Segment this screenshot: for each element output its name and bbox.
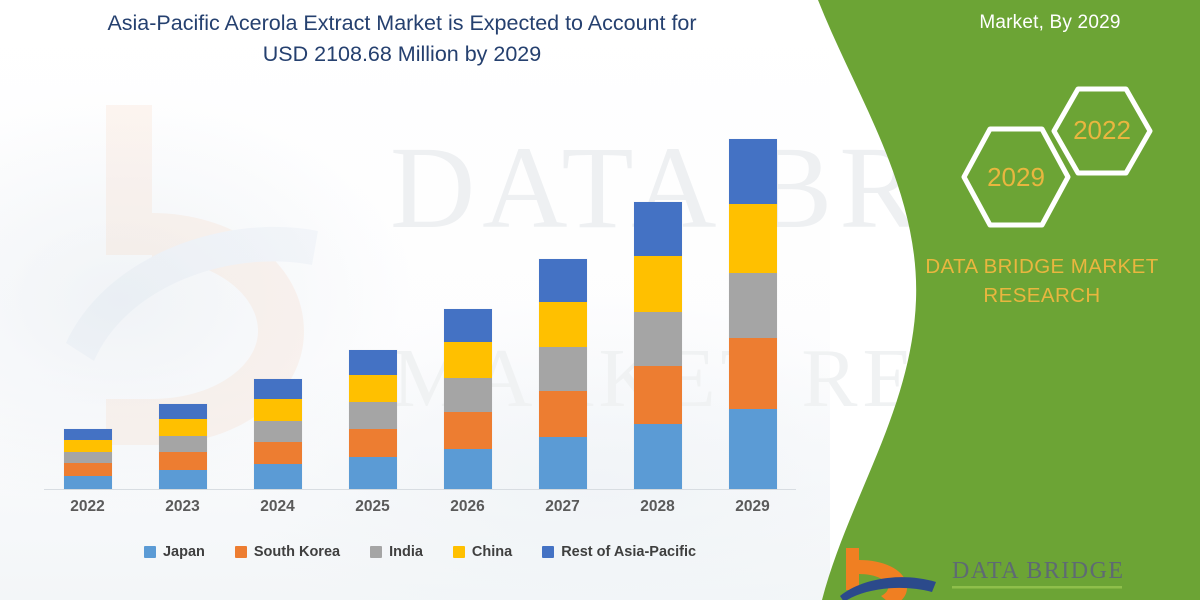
stacked-bar[interactable]: [444, 309, 492, 489]
svg-text:2029: 2029: [987, 162, 1045, 192]
legend-label: China: [472, 544, 512, 560]
bar-segment-south-korea[interactable]: [159, 452, 207, 470]
bar-segment-china[interactable]: [159, 419, 207, 436]
legend-label: Rest of Asia-Pacific: [561, 544, 696, 560]
legend-label: India: [389, 544, 423, 560]
bar-segment-china[interactable]: [634, 256, 682, 313]
bar-column-2027: [515, 90, 610, 489]
bar-column-2022: [40, 90, 135, 489]
green-side-panel: Market, By 2029 2022 2029 DATA BRIDGE MA…: [770, 0, 1200, 600]
legend-swatch-icon: [453, 546, 465, 558]
legend-item-china[interactable]: China: [453, 544, 512, 560]
bar-column-2026: [420, 90, 515, 489]
stacked-bar[interactable]: [539, 259, 587, 489]
x-axis-label-2027: 2027: [515, 498, 610, 524]
stacked-bar-chart: [40, 90, 800, 490]
bar-segment-china[interactable]: [254, 399, 302, 421]
legend-label: South Korea: [254, 544, 340, 560]
legend-swatch-icon: [144, 546, 156, 558]
infographic-canvas: DATA BRIDGE MARKET RESEARCH Asia-Pacific…: [0, 0, 1200, 600]
bar-segment-japan[interactable]: [349, 457, 397, 489]
x-axis-label-2022: 2022: [40, 498, 135, 524]
bar-segment-rest-of-asia-pacific[interactable]: [254, 379, 302, 399]
stacked-bar[interactable]: [349, 350, 397, 489]
x-axis-label-2025: 2025: [325, 498, 420, 524]
bar-segment-japan[interactable]: [254, 464, 302, 489]
bar-segment-rest-of-asia-pacific[interactable]: [159, 404, 207, 419]
bar-segment-south-korea[interactable]: [539, 391, 587, 438]
bar-segment-south-korea[interactable]: [349, 429, 397, 457]
bar-column-2028: [610, 90, 705, 489]
legend-item-south-korea[interactable]: South Korea: [235, 544, 340, 560]
bar-column-2024: [230, 90, 325, 489]
bar-segment-india[interactable]: [64, 452, 112, 464]
legend-swatch-icon: [542, 546, 554, 558]
bar-segment-india[interactable]: [159, 436, 207, 453]
legend-item-japan[interactable]: Japan: [144, 544, 205, 560]
x-axis-line: [44, 489, 796, 490]
legend-item-india[interactable]: India: [370, 544, 423, 560]
bar-column-2023: [135, 90, 230, 489]
chart-legend: JapanSouth KoreaIndiaChinaRest of Asia-P…: [40, 538, 800, 566]
dbmr-logo: DATA BRIDGE: [840, 548, 1180, 600]
x-axis-label-2028: 2028: [610, 498, 705, 524]
panel-brand-line-2: RESEARCH: [892, 281, 1192, 310]
bar-segment-india[interactable]: [349, 402, 397, 429]
legend-label: Japan: [163, 544, 205, 560]
bar-segment-rest-of-asia-pacific[interactable]: [349, 350, 397, 375]
panel-brand-line-1: DATA BRIDGE MARKET: [892, 252, 1192, 281]
stacked-bar[interactable]: [254, 379, 302, 489]
bar-segment-india[interactable]: [444, 378, 492, 412]
title-line-2: USD 2108.68 Million by 2029: [42, 39, 762, 70]
legend-item-rest-of-asia-pacific[interactable]: Rest of Asia-Pacific: [542, 544, 696, 560]
bar-segment-rest-of-asia-pacific[interactable]: [634, 202, 682, 255]
bar-segment-india[interactable]: [634, 312, 682, 365]
legend-swatch-icon: [235, 546, 247, 558]
bar-segment-china[interactable]: [349, 375, 397, 403]
stacked-bar[interactable]: [64, 429, 112, 489]
bar-segment-rest-of-asia-pacific[interactable]: [539, 259, 587, 302]
bar-segment-south-korea[interactable]: [444, 412, 492, 449]
x-axis-label-2024: 2024: [230, 498, 325, 524]
bar-segment-rest-of-asia-pacific[interactable]: [64, 429, 112, 440]
svg-text:DATA BRIDGE: DATA BRIDGE: [952, 558, 1125, 584]
bar-segment-japan[interactable]: [159, 470, 207, 489]
bar-segment-japan[interactable]: [444, 449, 492, 489]
bar-segment-india[interactable]: [539, 347, 587, 390]
bar-segment-japan[interactable]: [64, 476, 112, 489]
bar-segment-japan[interactable]: [634, 424, 682, 489]
page-title: Asia-Pacific Acerola Extract Market is E…: [42, 8, 762, 70]
x-axis-labels: 20222023202420252026202720282029: [40, 498, 800, 524]
stacked-bar[interactable]: [159, 404, 207, 489]
stacked-bar[interactable]: [634, 202, 682, 489]
panel-brand: DATA BRIDGE MARKET RESEARCH: [892, 252, 1192, 310]
bar-segment-india[interactable]: [254, 421, 302, 442]
title-line-1: Asia-Pacific Acerola Extract Market is E…: [42, 8, 762, 39]
bar-segment-rest-of-asia-pacific[interactable]: [444, 309, 492, 342]
logo-b-mark-icon: [840, 548, 936, 600]
bar-segment-china[interactable]: [64, 440, 112, 452]
hexagon-group: 2022 2029: [910, 85, 1200, 245]
bar-segment-south-korea[interactable]: [254, 442, 302, 465]
x-axis-label-2026: 2026: [420, 498, 515, 524]
panel-header: Market, By 2029: [910, 12, 1190, 34]
bar-column-2025: [325, 90, 420, 489]
bar-segment-south-korea[interactable]: [634, 366, 682, 424]
bar-segment-china[interactable]: [444, 342, 492, 378]
bar-segment-japan[interactable]: [539, 437, 587, 489]
bar-group: [40, 90, 800, 489]
bar-segment-south-korea[interactable]: [64, 463, 112, 476]
x-axis-label-2023: 2023: [135, 498, 230, 524]
svg-text:2022: 2022: [1073, 115, 1131, 145]
bar-segment-china[interactable]: [539, 302, 587, 348]
legend-swatch-icon: [370, 546, 382, 558]
